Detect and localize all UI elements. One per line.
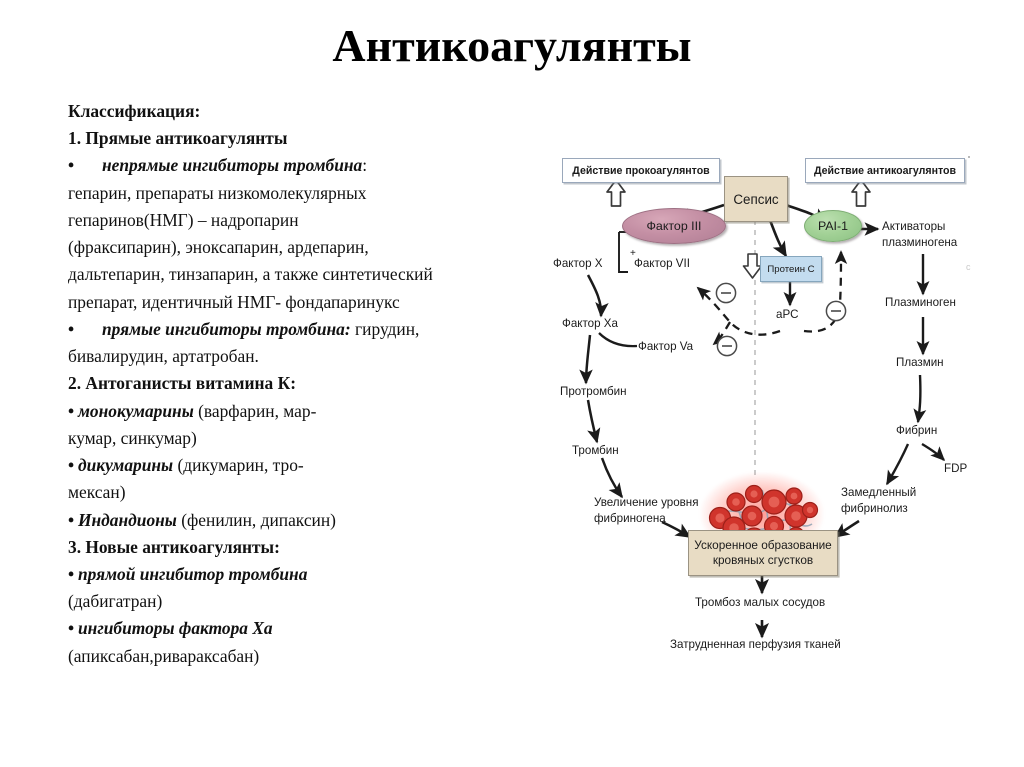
node-thrombin: Тромбин (572, 444, 619, 457)
node-sepsis: Сепсис (724, 176, 788, 222)
node-plasmin: Плазмин (896, 356, 944, 369)
text-heading: Классификация: (68, 98, 538, 125)
bullet-item-indandiones: •Индандионы (фенилин, дипаксин) (68, 507, 538, 534)
bullet-1-line-3: (фраксипарин), эноксапарин, ардепарин, (68, 234, 538, 261)
node-accelerated-clot-formation: Ускоренное образование кровяных сгустков (688, 530, 838, 576)
node-small-vessel-thrombosis: Тромбоз малых сосудов (695, 596, 825, 609)
bullet-4-emphasis: дикумарины (78, 455, 173, 475)
bullet-1-emphasis: непрямые ингибиторы тромбина (102, 155, 362, 175)
bullet-1-line-4: дальтепарин, тинзапарин, а также синтети… (68, 261, 538, 288)
bullet-3-line-2: кумар, синкумар) (68, 425, 538, 452)
stray-character-artifact: c (966, 262, 971, 272)
bullet-2-emphasis: прямые ингибиторы тромбина: (102, 319, 351, 339)
page-title: Антикоагулянты (0, 22, 1024, 70)
node-plasminogen-activators-line-1: Активаторы (882, 220, 945, 233)
clot-box-line-1: Ускоренное образование (694, 538, 832, 553)
bullet-1-line-1: гепарин, препараты низкомолекулярных (68, 180, 538, 207)
text-section-3: 3. Новые антикоагулянты: (68, 534, 538, 561)
bullet-item-monocoumarins: •монокумарины (варфарин, мар- (68, 398, 538, 425)
bullet-2-tail: гирудин, (351, 319, 420, 339)
bullet-6-line-2: (дабигатран) (68, 588, 538, 615)
bullet-marker: • (68, 452, 78, 479)
slide-canvas: Антикоагулянты Классификация: 1. Прямые … (0, 0, 1024, 767)
node-plasminogen-activators-line-2: плазминогена (882, 236, 957, 249)
minus-circle-right (826, 301, 845, 320)
bullet-2-line-2: бивалирудин, артатробан. (68, 343, 538, 370)
node-factor-iii: Фактор III (622, 208, 726, 244)
node-protein-c: Протеин С (760, 256, 822, 282)
bullet-item-factor-xa-inhibitors: •ингибиторы фактора Ха (68, 615, 538, 642)
node-fibrinogen-increase-line-2: фибриногена (594, 512, 666, 525)
bullet-item-direct-thrombin-inhibitor-new: •прямой ингибитор тромбина (68, 561, 538, 588)
text-section-2: 2. Антоганисты витамина К: (68, 370, 538, 397)
bullet-3-emphasis: монокумарины (78, 401, 194, 421)
node-factor-x: Фактор X (553, 257, 603, 270)
bullet-1-line-5: препарат, идентичный НМГ- фондапаринукс (68, 289, 538, 316)
clot-box-line-2: кровяных сгустков (713, 553, 813, 568)
header-box-procoagulant-action: Действие прокоагулянтов (562, 158, 720, 183)
minus-circle-upper (716, 283, 735, 302)
bullet-marker: • (68, 561, 78, 588)
node-slow-fibrinolysis-line-1: Замедленный (841, 486, 916, 499)
bullet-7-emphasis: ингибиторы фактора Ха (78, 618, 273, 638)
bullet-item-dicoumarins: •дикумарины (дикумарин, тро- (68, 452, 538, 479)
bullet-item-direct-thrombin-inhibitors: •прямые ингибиторы тромбина: гирудин, (68, 316, 538, 343)
bullet-4-tail: (дикумарин, тро- (173, 455, 304, 475)
node-apc: aPC (776, 308, 799, 321)
bullet-marker: • (68, 507, 78, 534)
node-fibrin: Фибрин (896, 424, 937, 437)
node-plasminogen: Плазминоген (885, 296, 956, 309)
bullet-item-indirect-thrombin-inhibitors: •непрямые ингибиторы тромбина: (68, 152, 538, 179)
bullet-1-tail: : (362, 155, 367, 175)
classification-text-column: Классификация: 1. Прямые антикоагулянты … (68, 98, 538, 670)
bullet-1-line-2: гепаринов(НМГ) – надропарин (68, 207, 538, 234)
bullet-6-emphasis: прямой ингибитор тромбина (78, 564, 307, 584)
node-fdp: FDP (944, 462, 967, 475)
stray-dot-artifact (968, 156, 970, 158)
node-impaired-tissue-perfusion: Затрудненная перфузия тканей (670, 638, 841, 651)
node-fibrinogen-increase-line-1: Увеличение уровня (594, 496, 699, 509)
header-box-anticoagulant-action: Действие антикоагулянтов (805, 158, 965, 183)
bullet-marker: • (68, 615, 78, 642)
node-slow-fibrinolysis-line-2: фибринолиз (841, 502, 908, 515)
bullet-marker: • (68, 398, 78, 425)
text-section-1: 1. Прямые антикоагулянты (68, 125, 538, 152)
bullet-4-line-2: мексан) (68, 479, 538, 506)
bullet-marker: • (68, 316, 102, 343)
node-pai-1: PAI-1 (804, 210, 862, 242)
bullet-3-tail: (варфарин, мар- (194, 401, 317, 421)
node-factor-va: Фактор Va (638, 340, 693, 353)
node-prothrombin: Протромбин (560, 385, 627, 398)
sepsis-coagulation-diagram: Действие прокоагулянтов Действие антикоа… (552, 150, 1024, 662)
bullet-5-emphasis: Индандионы (78, 510, 177, 530)
bullet-marker: • (68, 152, 102, 179)
bullet-7-line-2: (апиксабан,ривараксабан) (68, 643, 538, 670)
minus-circle-lower (717, 336, 736, 355)
node-factor-xa: Фактор Ха (562, 317, 618, 330)
node-factor-vii: Фактор VII (634, 257, 690, 270)
bullet-5-tail: (фенилин, дипаксин) (177, 510, 336, 530)
